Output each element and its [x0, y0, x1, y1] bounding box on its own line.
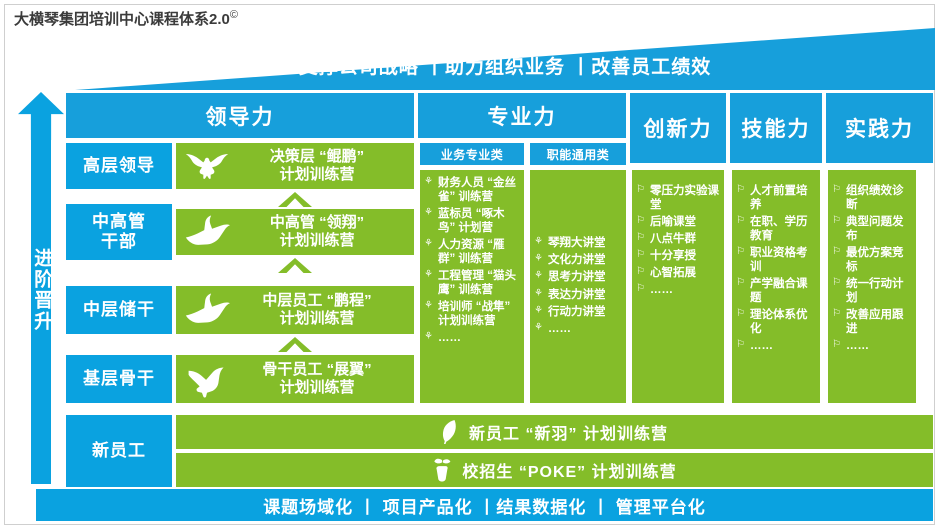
pillar-header-skill[interactable]: 技能力: [730, 93, 822, 163]
leaf-bullet-icon: ⚘: [424, 207, 433, 219]
list-item[interactable]: ⚐……: [736, 339, 816, 353]
list-item[interactable]: ⚘表达力讲堂: [534, 288, 622, 302]
leadership-program-lingxiang[interactable]: 中高管 “领翔” 计划训练营: [176, 209, 414, 255]
list-item[interactable]: ⚐后喻课堂: [636, 215, 720, 229]
copyright-mark: ©: [230, 9, 238, 21]
list-item[interactable]: ⚐十分享授: [636, 249, 720, 263]
pillar-header-practice[interactable]: 实践力: [826, 93, 933, 163]
list-item-label: 十分享授: [650, 250, 696, 262]
lingxiang-line2: 计划训练营: [279, 232, 354, 250]
leaf-bullet-icon: ⚘: [424, 300, 433, 312]
list-item[interactable]: ⚘培训师 “战隼” 计划训练营: [424, 300, 520, 328]
leaf-bullet-icon: ⚘: [424, 238, 433, 250]
pengcheng-line2: 计划训练营: [279, 310, 354, 328]
leadership-program-kunpeng[interactable]: 决策层 “鲲鹏” 计划训练营: [176, 143, 414, 189]
bird-bullet-icon: ⚐: [736, 339, 745, 351]
list-item-label: 人力资源 “雁群” 训练营: [438, 239, 504, 265]
bird-bullet-icon: ⚐: [636, 249, 645, 261]
list-item-label: ……: [750, 340, 773, 352]
list-practice: ⚐组织绩效诊断 ⚐典型问题发布 ⚐最优方案竞标 ⚐统一行动计划 ⚐改善应用跟进 …: [828, 170, 916, 403]
leaf-bullet-icon: ⚘: [534, 253, 543, 265]
level-box-middle-senior-label: 中高管 干部: [92, 212, 146, 252]
bird-bullet-icon: ⚐: [832, 308, 841, 320]
functional-general-items: ⚘琴翔大讲堂 ⚘文化力讲堂 ⚘思考力讲堂 ⚘表达力讲堂 ⚘行动力讲堂 ⚘……: [534, 236, 622, 338]
bird-bullet-icon: ⚐: [832, 215, 841, 227]
leadership-program-pengcheng[interactable]: 中层员工 “鹏程” 计划训练营: [176, 286, 414, 334]
list-item-label: 职业资格考训: [750, 247, 808, 273]
list-item-label: 心智拓展: [650, 267, 696, 279]
list-item[interactable]: ⚘……: [424, 331, 520, 345]
list-item[interactable]: ⚐典型问题发布: [832, 215, 912, 243]
bird-bullet-icon: ⚐: [832, 246, 841, 258]
skill-items: ⚐人才前置培养 ⚐在职、学历教育 ⚐职业资格考训 ⚐产学融合课题 ⚐理论体系优化…: [736, 184, 816, 353]
practice-items: ⚐组织绩效诊断 ⚐典型问题发布 ⚐最优方案竞标 ⚐统一行动计划 ⚐改善应用跟进 …: [832, 184, 912, 353]
list-functional-general: ⚘琴翔大讲堂 ⚘文化力讲堂 ⚘思考力讲堂 ⚘表达力讲堂 ⚘行动力讲堂 ⚘……: [530, 170, 626, 403]
list-business-professional: ⚘财务人员 “金丝雀” 训练营 ⚘蓝标员 “啄木鸟” 计划营 ⚘人力资源 “雁群…: [420, 170, 524, 403]
pillar-header-innovation[interactable]: 创新力: [630, 93, 726, 163]
bird-bullet-icon: ⚐: [636, 283, 645, 295]
list-item-label: 零压力实验课堂: [650, 185, 719, 211]
business-professional-items: ⚘财务人员 “金丝雀” 训练营 ⚘蓝标员 “啄木鸟” 计划营 ⚘人力资源 “雁群…: [424, 176, 520, 345]
list-item[interactable]: ⚐职业资格考训: [736, 246, 816, 274]
list-item-label: ……: [548, 323, 571, 335]
list-item[interactable]: ⚐最优方案竞标: [832, 246, 912, 274]
list-item[interactable]: ⚐组织绩效诊断: [832, 184, 912, 212]
bird-bullet-icon: ⚐: [736, 184, 745, 196]
list-item-label: 人才前置培养: [750, 185, 808, 211]
leadership-program-kunpeng-text: 决策层 “鲲鹏” 计划训练营: [226, 143, 408, 189]
level-box-middle-reserve[interactable]: 中层储干: [66, 286, 172, 334]
pillar-header-skill-label: 技能力: [742, 113, 811, 143]
list-item-label: 统一行动计划: [846, 278, 904, 304]
list-item-label: 琴翔大讲堂: [548, 237, 606, 249]
list-item-label: 理论体系优化: [750, 309, 808, 335]
bottom-banner: 课题场域化 丨 项目产品化 丨结果数据化 丨 管理平台化: [36, 489, 933, 521]
bottom-banner-text: 课题场域化 丨 项目产品化 丨结果数据化 丨 管理平台化: [263, 493, 706, 518]
zhanyi-line2: 计划训练营: [279, 379, 354, 397]
list-item[interactable]: ⚐理论体系优化: [736, 308, 816, 336]
leaf-bullet-icon: ⚘: [534, 305, 543, 317]
sub-header-functional-general-label: 职能通用类: [547, 146, 610, 163]
level-box-senior-label: 高层领导: [83, 156, 155, 176]
list-item-label: 行动力讲堂: [548, 306, 606, 318]
list-item[interactable]: ⚘琴翔大讲堂: [534, 236, 622, 250]
leaf-bullet-icon: ⚘: [424, 269, 433, 281]
list-item-label: 文化力讲堂: [548, 254, 606, 266]
bird-bullet-icon: ⚐: [736, 246, 745, 258]
level-box-frontline[interactable]: 基层骨干: [66, 355, 172, 403]
list-item[interactable]: ⚐……: [832, 339, 912, 353]
list-item[interactable]: ⚐零压力实验课堂: [636, 184, 720, 212]
lingxiang-line1: 中高管 “领翔”: [270, 214, 364, 232]
leadership-program-lingxiang-text: 中高管 “领翔” 计划训练营: [226, 209, 408, 255]
pillar-header-professional-label: 专业力: [488, 101, 557, 131]
list-item-label: 蓝标员 “啄木鸟” 计划营: [438, 208, 504, 234]
new-employee-program-xinyu-label: 新员工 “新羽” 计划训练营: [469, 420, 668, 444]
bird-bullet-icon: ⚐: [736, 215, 745, 227]
list-item-label: 组织绩效诊断: [846, 185, 904, 211]
bird-bullet-icon: ⚐: [636, 215, 645, 227]
innovation-items: ⚐零压力实验课堂 ⚐后喻课堂 ⚐八点牛群 ⚐十分享授 ⚐心智拓展 ⚐……: [636, 184, 720, 297]
list-item-label: 表达力讲堂: [548, 289, 606, 301]
new-employee-program-poke[interactable]: 校招生 “POKE” 计划训练营: [176, 453, 933, 487]
sub-header-business-professional[interactable]: 业务专业类: [420, 143, 524, 165]
list-item-label: 后喻课堂: [650, 216, 696, 228]
list-item[interactable]: ⚐……: [636, 283, 720, 297]
list-item[interactable]: ⚘工程管理 “猫头鹰” 训练营: [424, 269, 520, 297]
list-item[interactable]: ⚐在职、学历教育: [736, 215, 816, 243]
list-item[interactable]: ⚘财务人员 “金丝雀” 训练营: [424, 176, 520, 204]
pillar-header-professional[interactable]: 专业力: [418, 93, 626, 138]
page-title-text: 大横琴集团培训中心课程体系2.0: [14, 11, 230, 28]
bird-bullet-icon: ⚐: [832, 277, 841, 289]
list-item[interactable]: ⚐统一行动计划: [832, 277, 912, 305]
level-box-senior[interactable]: 高层领导: [66, 143, 172, 189]
list-item[interactable]: ⚐心智拓展: [636, 266, 720, 280]
list-item-label: 典型问题发布: [846, 216, 904, 242]
list-item[interactable]: ⚘人力资源 “雁群” 训练营: [424, 238, 520, 266]
course-system-diagram: 大横琴集团培训中心课程体系2.0© 支撑公司战略 丨助力组织业务 丨改善员工绩效…: [0, 0, 939, 529]
progression-label: 进阶晋升: [18, 95, 64, 485]
bird-bullet-icon: ⚐: [736, 308, 745, 320]
leaf-bullet-icon: ⚘: [534, 322, 543, 334]
zhanyi-line1: 骨干员工 “展翼”: [262, 361, 371, 379]
level-box-new-employee-label: 新员工: [92, 441, 146, 461]
list-item[interactable]: ⚐改善应用跟进: [832, 308, 912, 336]
bird-bullet-icon: ⚐: [636, 266, 645, 278]
bird-bullet-icon: ⚐: [736, 277, 745, 289]
list-item-label: 在职、学历教育: [750, 216, 808, 242]
leaf-bullet-icon: ⚘: [534, 270, 543, 282]
list-innovation: ⚐零压力实验课堂 ⚐后喻课堂 ⚐八点牛群 ⚐十分享授 ⚐心智拓展 ⚐……: [632, 170, 724, 403]
bird-bullet-icon: ⚐: [832, 184, 841, 196]
list-item-label: 思考力讲堂: [548, 271, 606, 283]
list-item-label: 产学融合课题: [750, 278, 808, 304]
list-item-label: 工程管理 “猫头鹰” 训练营: [438, 270, 516, 296]
pillar-header-leadership[interactable]: 领导力: [66, 93, 414, 138]
list-item-label: ……: [650, 284, 673, 296]
leaf-bullet-icon: ⚘: [534, 236, 543, 248]
top-banner-text: 支撑公司战略 丨助力组织业务 丨改善员工绩效: [75, 48, 935, 82]
new-employee-program-poke-label: 校招生 “POKE” 计划训练营: [462, 458, 676, 482]
page-title: 大横琴集团培训中心课程体系2.0©: [14, 8, 238, 29]
list-item-label: ……: [846, 340, 869, 352]
kunpeng-line2: 计划训练营: [279, 166, 354, 184]
goose-icon: [184, 213, 230, 251]
list-item[interactable]: ⚘蓝标员 “啄木鸟” 计划营: [424, 207, 520, 235]
bird-bullet-icon: ⚐: [636, 184, 645, 196]
new-employee-program-xinyu[interactable]: 新员工 “新羽” 计划训练营: [176, 415, 933, 449]
sub-header-business-professional-label: 业务专业类: [441, 146, 504, 163]
pillar-header-practice-label: 实践力: [845, 113, 914, 143]
pillar-header-leadership-label: 领导力: [206, 101, 275, 131]
list-item[interactable]: ⚘思考力讲堂: [534, 270, 622, 284]
sub-header-functional-general[interactable]: 职能通用类: [530, 143, 626, 165]
leaf-bullet-icon: ⚘: [534, 288, 543, 300]
list-item-label: 八点牛群: [650, 233, 696, 245]
level-box-middle-reserve-label: 中层储干: [83, 300, 155, 320]
list-item[interactable]: ⚘……: [534, 322, 622, 336]
list-skill: ⚐人才前置培养 ⚐在职、学历教育 ⚐职业资格考训 ⚐产学融合课题 ⚐理论体系优化…: [732, 170, 820, 403]
leadership-program-zhanyi[interactable]: 骨干员工 “展翼” 计划训练营: [176, 355, 414, 403]
pengcheng-line1: 中层员工 “鹏程”: [262, 292, 371, 310]
leaf-bullet-icon: ⚘: [424, 176, 433, 188]
list-item[interactable]: ⚘行动力讲堂: [534, 305, 622, 319]
leadership-program-zhanyi-text: 骨干员工 “展翼” 计划训练营: [226, 355, 408, 403]
bird-bullet-icon: ⚐: [636, 232, 645, 244]
goose-icon: [184, 291, 230, 329]
list-item-label: 最优方案竞标: [846, 247, 904, 273]
list-item[interactable]: ⚐产学融合课题: [736, 277, 816, 305]
bird-bullet-icon: ⚐: [832, 339, 841, 351]
level-box-middle-senior[interactable]: 中高管 干部: [66, 204, 172, 260]
feather-icon: [441, 419, 459, 445]
eagle-icon: [184, 147, 230, 185]
sprout-hand-icon: [432, 457, 452, 483]
level-box-new-employee[interactable]: 新员工: [66, 415, 172, 487]
list-item-label: ……: [438, 332, 461, 344]
list-item-label: 财务人员 “金丝雀” 训练营: [438, 177, 516, 203]
list-item[interactable]: ⚘文化力讲堂: [534, 253, 622, 267]
pillar-header-innovation-label: 创新力: [644, 113, 713, 143]
level-box-frontline-label: 基层骨干: [83, 369, 155, 389]
list-item-label: 培训师 “战隼” 计划训练营: [438, 301, 510, 327]
list-item-label: 改善应用跟进: [846, 309, 904, 335]
progression-label-text: 进阶晋升: [31, 248, 52, 332]
leadership-program-pengcheng-text: 中层员工 “鹏程” 计划训练营: [226, 286, 408, 334]
list-item[interactable]: ⚐八点牛群: [636, 232, 720, 246]
kunpeng-line1: 决策层 “鲲鹏”: [270, 148, 364, 166]
hummingbird-icon: [184, 360, 230, 398]
list-item[interactable]: ⚐人才前置培养: [736, 184, 816, 212]
leaf-bullet-icon: ⚘: [424, 331, 433, 343]
